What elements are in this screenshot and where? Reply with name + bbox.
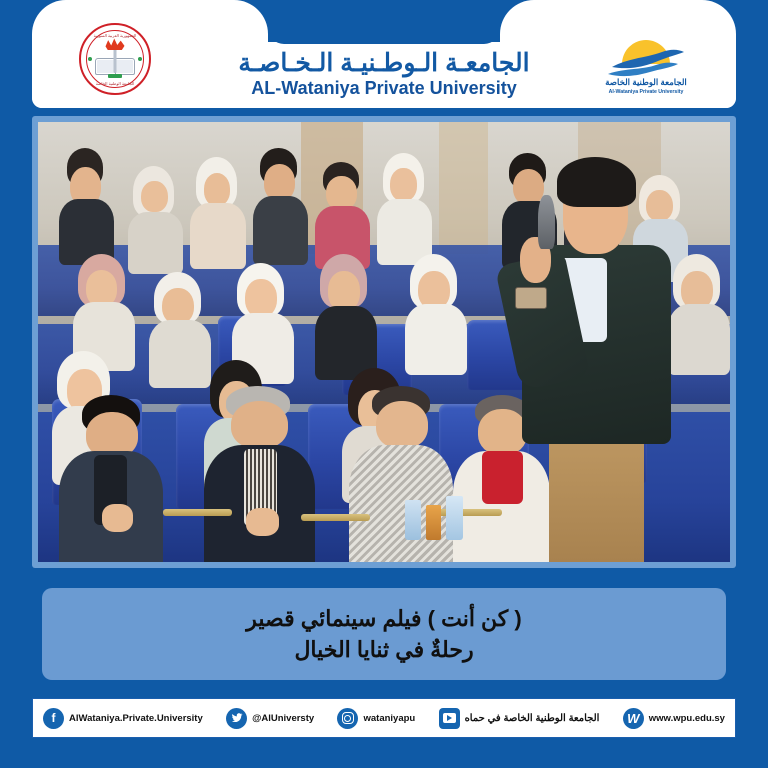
torso [349,445,453,562]
website-icon[interactable]: W [623,708,644,729]
torso [405,304,467,375]
caption-line-1: ( كن أنت ) فيلم سينمائي قصير [246,603,521,634]
head [245,279,276,317]
seal-dot-right [138,57,142,61]
head [141,181,168,213]
water-bottle [446,496,463,540]
facebook-handle: AlWataniya.Private.University [69,713,203,724]
audience-member-front [59,395,163,562]
head [162,288,193,325]
audience-member [405,254,467,373]
torso [128,212,183,273]
seal-emblem [92,39,138,79]
instagram-handle: wataniyapu [363,713,415,724]
torso [253,196,308,265]
water-bottle [405,500,422,540]
header-center-notch [310,0,458,44]
website-url: www.wpu.edu.sy [649,713,725,724]
header-notch-left [268,0,310,44]
instagram-glyph [342,712,354,724]
audience-member [59,148,114,262]
footer-item-instagram[interactable]: wataniyapu [337,708,415,729]
audience-member [128,166,183,272]
footer-item-website[interactable]: W www.wpu.edu.sy [623,708,725,729]
twitter-icon[interactable] [226,708,247,729]
sun-wave-logo-svg: الجامعة الوطنية الخاصة Al-Wataniya Priva… [598,22,694,96]
microphone-icon [538,195,555,250]
university-seal-logo: الجمهورية العربية السورية الجامعة الوطني… [79,23,151,95]
clapping-hands [102,504,133,532]
facebook-icon[interactable]: f [43,708,64,729]
youtube-glyph [443,713,456,723]
torso [149,320,211,389]
head [390,168,417,201]
speaker-hair [557,157,636,208]
seal-ring-text-bottom: الجامعة الوطنية الخاصة [81,81,149,86]
seal-staff-icon [114,46,117,73]
social-footer-bar: f AlWataniya.Private.University @AlUnive… [32,698,736,738]
footer-item-youtube[interactable]: الجامعة الوطنية الخاصة في حماه [439,708,600,729]
head [418,271,449,309]
header-title-english: AL-Wataniya Private University [251,78,516,100]
head [376,401,428,449]
header-notch-right [458,0,500,44]
header-title-arabic: الجامعـة الـوطـنيـة الـخـاصـة [238,50,529,76]
footer-item-facebook[interactable]: f AlWataniya.Private.University [43,708,203,729]
audience-member [253,148,308,262]
event-photo [38,122,730,562]
caption-line-2: رحلةٌ في ثنايا الخيال [294,634,473,665]
clapping-hands [246,508,279,536]
seal-ring-text-top: الجمهورية العربية السورية [81,33,149,38]
audience-member [377,153,432,263]
instagram-icon[interactable] [337,708,358,729]
sun-wave-logo: الجامعة الوطنية الخاصة Al-Wataniya Priva… [598,22,694,96]
seat-armrest [432,509,501,516]
head [328,271,359,310]
wall-panel-b [439,122,487,254]
youtube-channel-name: الجامعة الوطنية الخاصة في حماه [465,713,600,724]
speaker-with-microphone [495,140,703,562]
page-header: الجمهورية العربية السورية الجامعة الوطني… [0,0,768,108]
photo-frame [32,116,736,568]
sun-logo-wordmark-ar: الجامعة الوطنية الخاصة [605,77,687,88]
wristwatch [515,287,546,308]
head [231,401,289,449]
seal-green-bar [108,74,122,78]
seal-flame-icon [106,38,125,50]
seat-armrest [163,509,232,516]
audience-member [315,254,377,377]
youtube-icon[interactable] [439,708,460,729]
footer-item-twitter[interactable]: @AlUniversty [226,708,314,729]
twitter-handle: @AlUniversty [252,713,314,724]
audience-member [315,162,370,268]
juice-bottle [426,505,441,540]
torso [190,203,245,269]
audience-member [190,157,245,267]
caption-panel: ( كن أنت ) فيلم سينمائي قصير رحلةٌ في ثن… [42,588,726,680]
audience-member [149,272,211,386]
seat-armrest [301,514,370,521]
head [204,173,231,206]
twitter-bird-icon [231,712,243,724]
audience-member-front [204,386,315,562]
sun-logo-wordmark-en: Al-Wataniya Private University [609,89,684,95]
